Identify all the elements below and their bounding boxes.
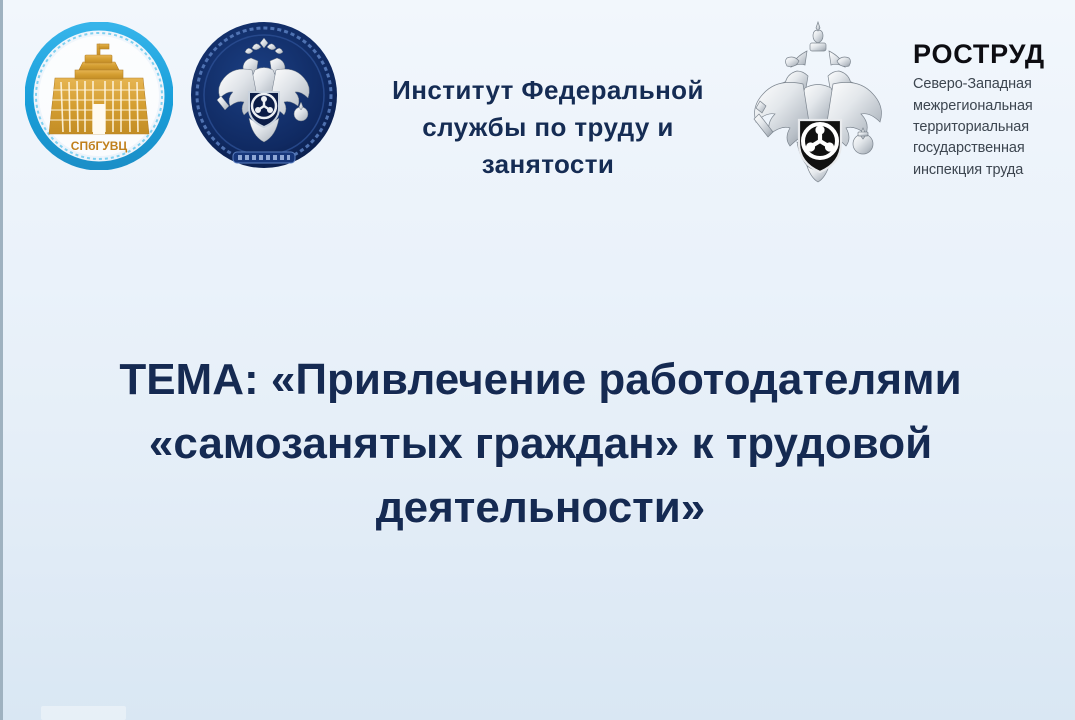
rostrud-blue-seal-icon <box>189 14 339 176</box>
slide-title: ТЕМА: «Привлечение работодателями «самоз… <box>3 348 1075 541</box>
slide-title-line-3: деятельности» <box>13 476 1068 540</box>
spbguvc-seal-icon: СПбГУВЦ <box>25 22 173 170</box>
slide-title-line-2: «самозанятых граждан» к трудовой <box>13 412 1068 476</box>
double-headed-eagle-icon <box>729 16 907 200</box>
rostrud-subtitle-line-5: инспекция труда <box>913 160 1075 181</box>
footer-highlight-strip <box>41 706 126 720</box>
rostrud-subtitle-line-3: территориальная <box>913 117 1075 138</box>
rostrud-wordmark: РОСТРУД Северо-Западная межрегиональная … <box>913 40 1075 181</box>
institute-name-line-3: занятости <box>482 149 615 179</box>
institute-name-line-2: службы по труду и <box>422 112 674 142</box>
institute-name: Институт Федеральной службы по труду и з… <box>353 72 743 183</box>
rostrud-shield-icon <box>799 120 841 172</box>
spbguvc-abbreviation: СПбГУВЦ <box>71 139 128 153</box>
rostrud-subtitle-line-4: государственная <box>913 138 1075 159</box>
slide-header: СПбГУВЦ <box>3 0 1075 205</box>
rostrud-title: РОСТРУД <box>913 40 1075 68</box>
institute-name-line-1: Институт Федеральной <box>392 75 704 105</box>
slide-title-line-1: ТЕМА: «Привлечение работодателями <box>13 348 1068 412</box>
rostrud-subtitle-line-2: межрегиональная <box>913 96 1075 117</box>
rostrud-subtitle: Северо-Западная межрегиональная территор… <box>913 74 1075 181</box>
rostrud-subtitle-line-1: Северо-Западная <box>913 74 1075 95</box>
presentation-slide: СПбГУВЦ <box>0 0 1075 720</box>
